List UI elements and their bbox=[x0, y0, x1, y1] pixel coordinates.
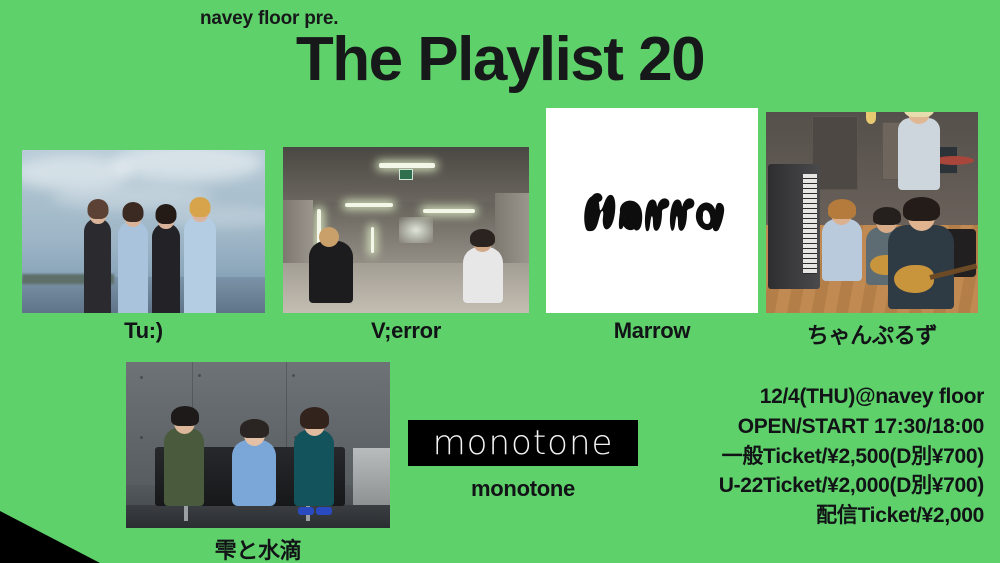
keyboard-keys bbox=[803, 174, 817, 274]
band-member bbox=[184, 216, 216, 313]
keyboard-instrument bbox=[768, 164, 820, 289]
artist-card-verror: V;error bbox=[283, 147, 529, 344]
member-hair bbox=[470, 229, 495, 247]
band-member bbox=[164, 428, 204, 506]
member-hair bbox=[873, 207, 901, 225]
artist-photo-verror bbox=[283, 147, 529, 313]
member-hair bbox=[87, 199, 108, 219]
member-hair bbox=[903, 197, 940, 221]
artist-name-shizuku: 雫と水滴 bbox=[126, 533, 390, 563]
ticket-general: 一般Ticket/¥2,500(D別¥700) bbox=[719, 442, 984, 472]
band-member bbox=[309, 241, 353, 303]
member-shoe bbox=[316, 507, 332, 515]
member-hair bbox=[156, 204, 177, 224]
exit-sign-icon bbox=[399, 169, 413, 180]
artist-card-tu: Tu:) bbox=[22, 150, 265, 344]
band-member bbox=[118, 221, 148, 313]
event-open-start: OPEN/START 17:30/18:00 bbox=[719, 412, 984, 442]
member-hair bbox=[240, 419, 269, 438]
member-hair bbox=[828, 199, 856, 219]
artist-card-chanpuruzu: ちゃんぷるず bbox=[766, 112, 978, 350]
member-head bbox=[319, 227, 339, 247]
page-title: The Playlist 20 bbox=[0, 27, 1000, 92]
wall-lamp bbox=[371, 227, 374, 253]
studio-floor bbox=[126, 505, 390, 528]
band-member bbox=[232, 440, 276, 506]
artist-card-shizuku: 雫と水滴 bbox=[126, 362, 390, 563]
band-member bbox=[294, 430, 334, 506]
event-date-venue: 12/4(THU)@navey floor bbox=[719, 382, 984, 412]
corner-wedge bbox=[0, 511, 100, 563]
side-shelf bbox=[353, 448, 390, 504]
ticket-stream: 配信Ticket/¥2,000 bbox=[719, 501, 984, 531]
artist-card-marrow: Marrow bbox=[546, 108, 758, 344]
ceiling-lamp bbox=[379, 163, 435, 168]
band-member bbox=[888, 225, 954, 309]
ceiling-lamp bbox=[423, 209, 475, 213]
artist-name-monotone: monotone bbox=[408, 476, 638, 502]
member-shoe bbox=[298, 507, 314, 515]
ceiling-lamp bbox=[345, 203, 393, 207]
vanishing-point-glow bbox=[399, 217, 433, 243]
marrow-logo-icon bbox=[577, 180, 727, 242]
artist-photo-chanpuruzu bbox=[766, 112, 978, 313]
wall-dot bbox=[140, 376, 143, 379]
guitar-body bbox=[894, 265, 934, 293]
artist-name-marrow: Marrow bbox=[546, 318, 758, 344]
band-member bbox=[463, 247, 503, 303]
artist-photo-marrow bbox=[546, 108, 758, 313]
cloud-shape bbox=[112, 150, 262, 182]
artist-name-chanpuruzu: ちゃんぷるず bbox=[766, 318, 978, 350]
wall-dot bbox=[140, 436, 143, 439]
member-hair bbox=[171, 406, 199, 426]
band-member bbox=[822, 219, 862, 281]
artist-photo-shizuku bbox=[126, 362, 390, 528]
monotone-wordmark: monotone bbox=[408, 420, 638, 466]
wall-dot bbox=[198, 374, 201, 377]
event-flyer: navey floor pre. The Playlist 20 bbox=[0, 0, 1000, 563]
ticket-u22: U-22Ticket/¥2,000(D別¥700) bbox=[719, 471, 984, 501]
artist-photo-tu bbox=[22, 150, 265, 313]
artist-logo-monotone: monotone bbox=[408, 420, 638, 466]
artist-card-monotone: monotone monotone bbox=[408, 420, 638, 502]
band-member bbox=[898, 118, 940, 190]
member-hair bbox=[190, 197, 211, 217]
band-member bbox=[152, 223, 180, 313]
artist-name-tu: Tu:) bbox=[22, 318, 265, 344]
band-member bbox=[84, 218, 111, 313]
event-info-block: 12/4(THU)@navey floor OPEN/START 17:30/1… bbox=[719, 382, 984, 531]
member-hair bbox=[123, 202, 144, 222]
artist-name-verror: V;error bbox=[283, 318, 529, 344]
ceiling-light bbox=[866, 112, 876, 124]
member-hair bbox=[300, 407, 329, 429]
wall-dot bbox=[292, 374, 295, 377]
